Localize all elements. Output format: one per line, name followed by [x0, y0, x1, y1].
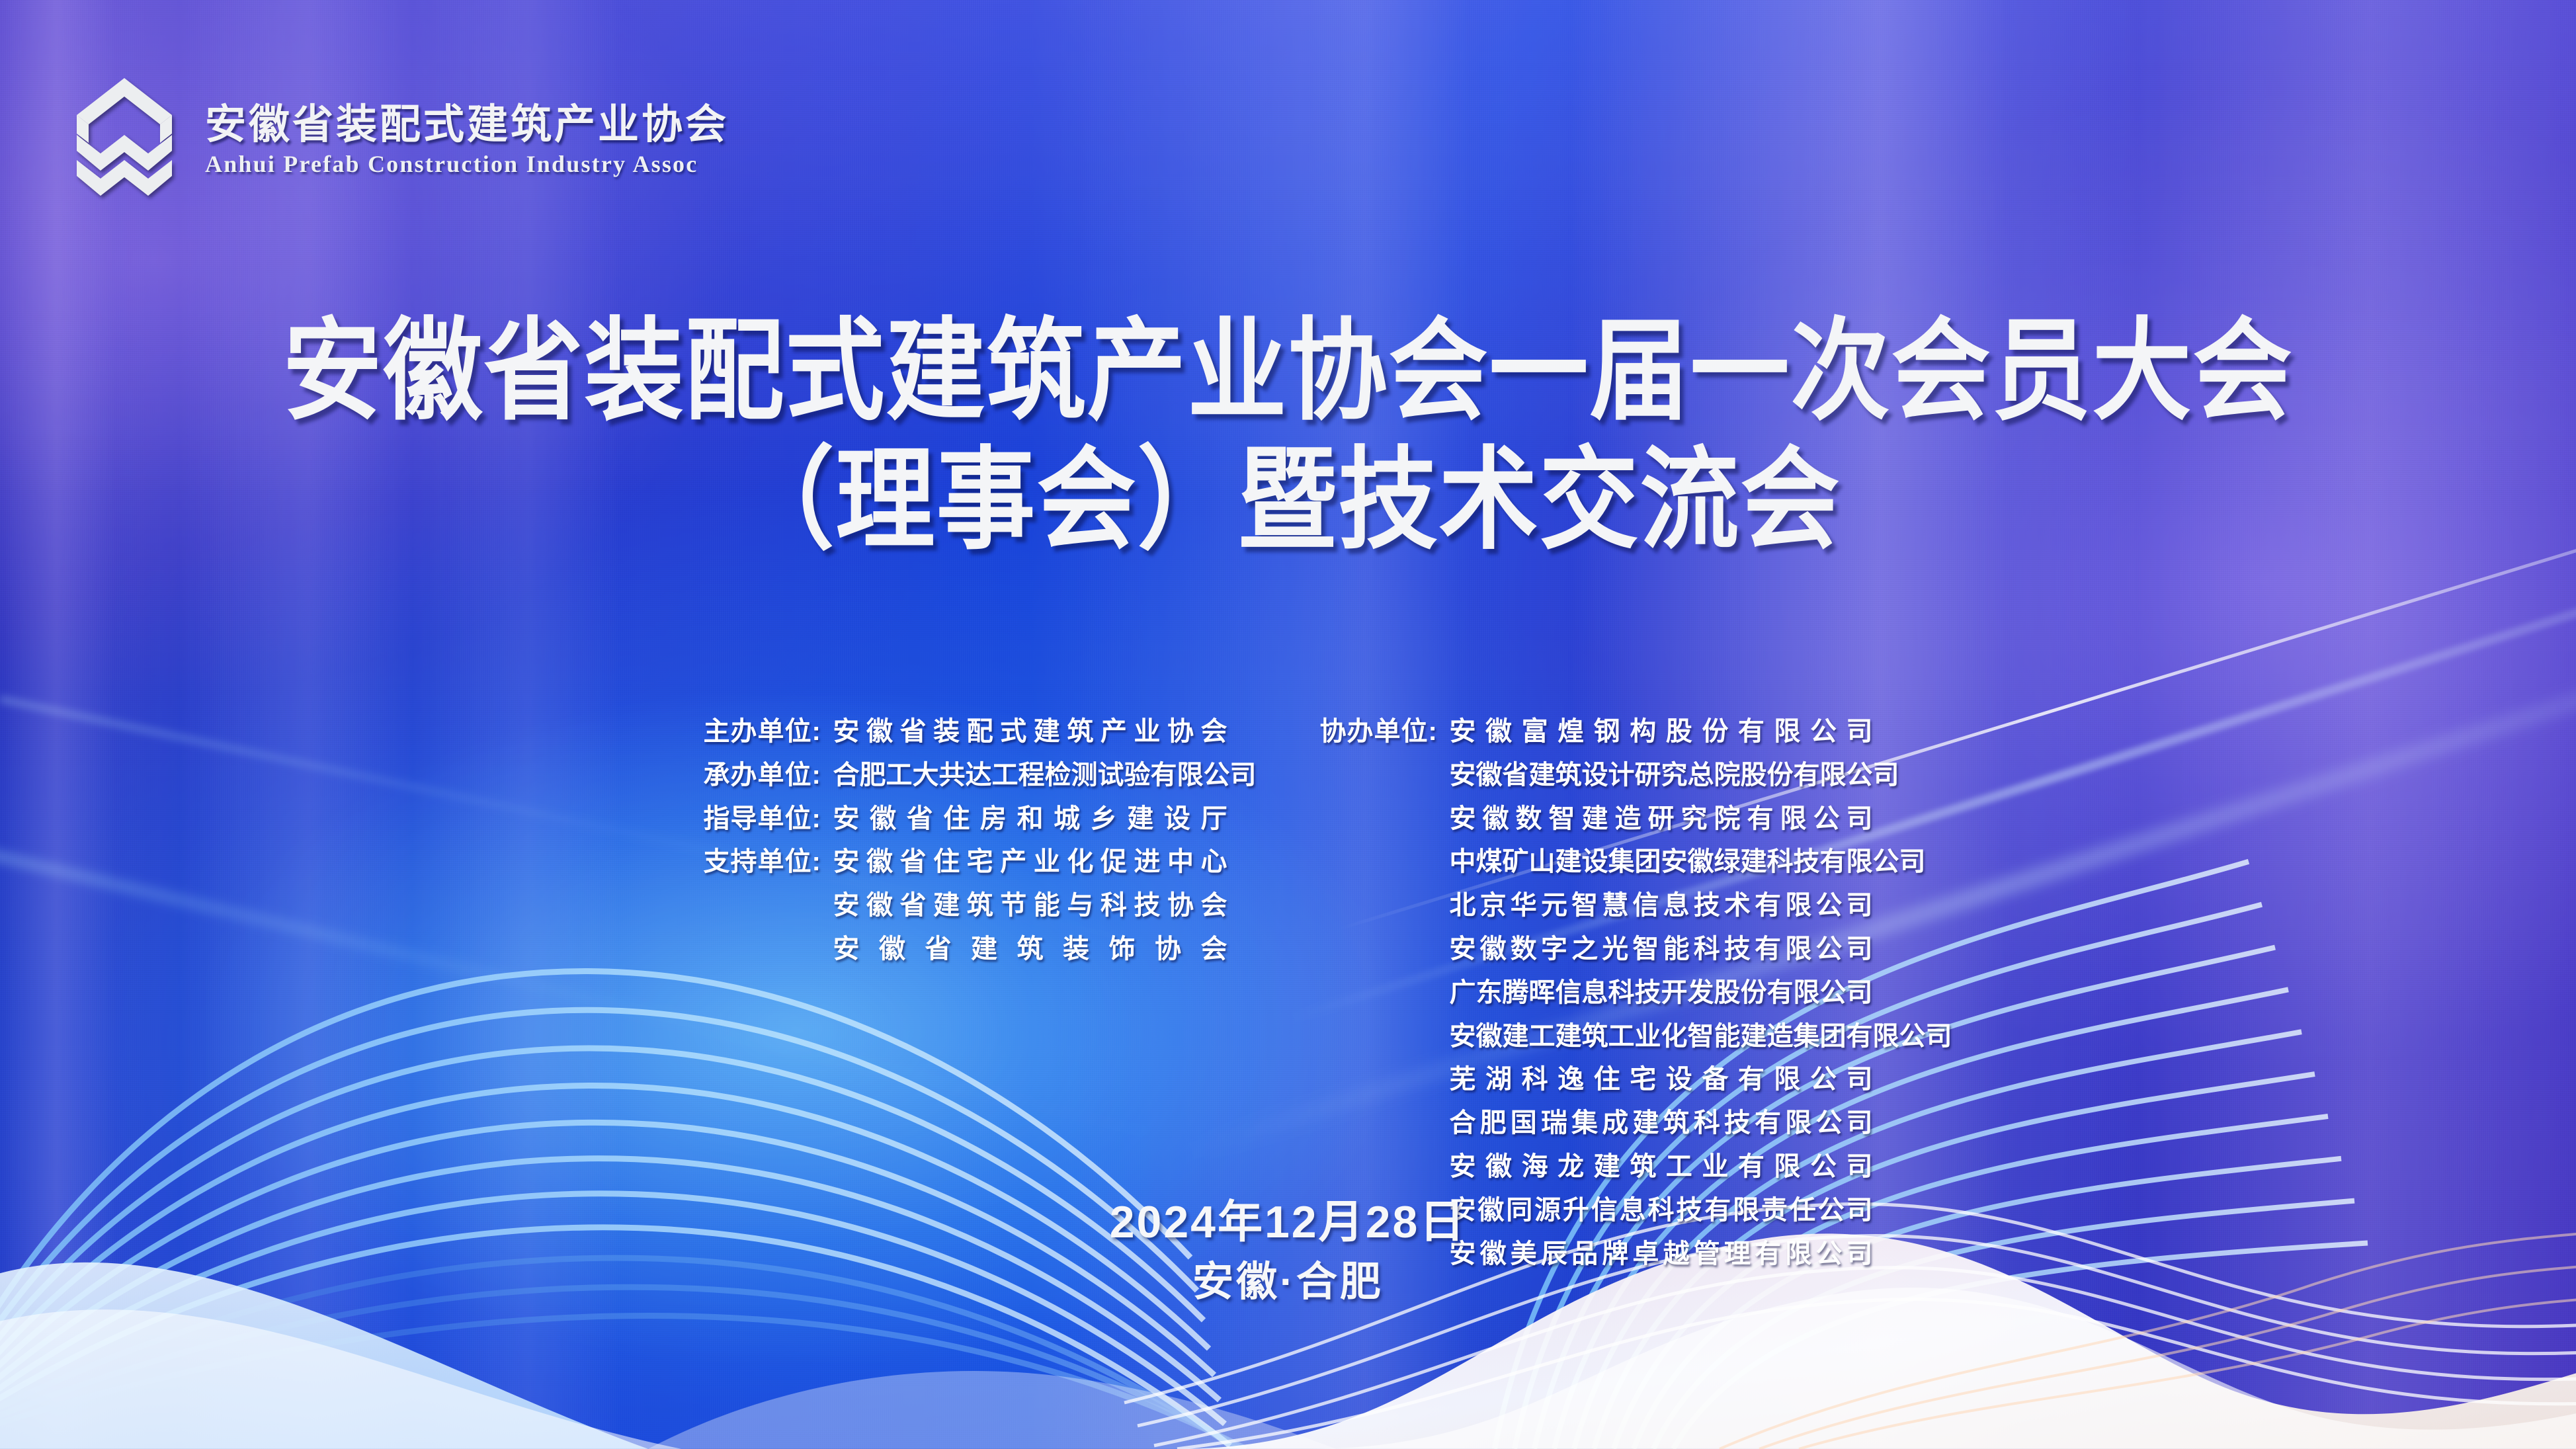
organizer-value: 安徽省建筑设计研究总院股份有限公司	[1450, 754, 1873, 797]
organizer-row: 协办单位: 合肥国瑞集成建筑科技有限公司	[1320, 1101, 1873, 1145]
organizer-value: 安徽省建筑装饰协会	[833, 928, 1227, 971]
event-date: 2024年12月28日	[0, 1194, 2576, 1251]
organizer-value: 北京华元智慧信息技术有限公司	[1450, 884, 1873, 927]
organizer-value: 安徽数字之光智能科技有限公司	[1450, 928, 1873, 971]
organizer-row: 主办单位: 安徽省建筑装饰协会	[704, 927, 1227, 971]
organizer-row: 主办单位: 安徽省装配式建筑产业协会	[704, 710, 1227, 753]
organizer-value: 中煤矿山建设集团安徽绿建科技有限公司	[1450, 841, 1873, 884]
organizer-value: 合肥国瑞集成建筑科技有限公司	[1450, 1102, 1873, 1145]
organizer-row: 协办单位: 安徽富煌钢构股份有限公司	[1320, 710, 1873, 753]
organizer-row: 协办单位: 安徽数字之光智能科技有限公司	[1320, 927, 1873, 971]
organizer-label: 主办单位:	[704, 710, 833, 748]
organizer-row: 支持单位: 安徽省住宅产业化促进中心	[704, 840, 1227, 884]
chevron-layers-icon	[71, 74, 177, 206]
organizer-value: 安徽省住房和城乡建设厅	[833, 798, 1227, 841]
organizer-value: 芜湖科逸住宅设备有限公司	[1450, 1058, 1873, 1101]
organizer-label: 支持单位:	[704, 840, 833, 878]
organizer-value: 广东腾晖信息科技开发股份有限公司	[1450, 972, 1873, 1014]
organizer-row: 协办单位: 安徽省建筑设计研究总院股份有限公司	[1320, 753, 1873, 797]
logo-chinese-name: 安徽省装配式建筑产业协会	[205, 103, 729, 147]
organizer-label: 承办单位:	[704, 753, 833, 792]
conference-backdrop-banner: 安徽省装配式建筑产业协会 Anhui Prefab Construction I…	[0, 0, 2576, 1449]
association-logo: 安徽省装配式建筑产业协会 Anhui Prefab Construction I…	[71, 74, 729, 206]
organizer-value: 安徽省住宅产业化促进中心	[833, 841, 1227, 884]
event-title: 安徽省装配式建筑产业协会一届一次会员大会 （理事会）暨技术交流会	[0, 299, 2576, 557]
organizer-value: 安徽建工建筑工业化智能建造集团有限公司	[1450, 1015, 1873, 1058]
organizer-row: 协办单位: 中煤矿山建设集团安徽绿建科技有限公司	[1320, 840, 1873, 884]
event-title-line-1: 安徽省装配式建筑产业协会一届一次会员大会	[0, 299, 2576, 443]
organizer-row: 主办单位: 安徽省建筑节能与科技协会	[704, 884, 1227, 927]
organizer-value: 安徽省装配式建筑产业协会	[833, 710, 1227, 753]
organizer-row: 指导单位: 安徽省住房和城乡建设厅	[704, 797, 1227, 841]
organizer-row: 协办单位: 北京华元智慧信息技术有限公司	[1320, 884, 1873, 927]
organizer-row: 协办单位: 芜湖科逸住宅设备有限公司	[1320, 1057, 1873, 1101]
organizer-value: 合肥工大共达工程检测试验有限公司	[833, 754, 1227, 797]
organizer-row: 协办单位: 安徽建工建筑工业化智能建造集团有限公司	[1320, 1014, 1873, 1058]
organizer-row: 承办单位: 合肥工大共达工程检测试验有限公司	[704, 753, 1227, 797]
event-footer: 2024年12月28日 安徽·合肥	[0, 1194, 2576, 1310]
event-title-line-2: （理事会）暨技术交流会	[0, 428, 2576, 572]
organizer-row: 协办单位: 安徽海龙建筑工业有限公司	[1320, 1145, 1873, 1188]
organizer-column-right: 协办单位: 安徽富煌钢构股份有限公司 协办单位: 安徽省建筑设计研究总院股份有限…	[1320, 710, 1873, 1275]
logo-english-name: Anhui Prefab Construction Industry Assoc	[205, 150, 729, 178]
organizer-value: 安徽省建筑节能与科技协会	[833, 884, 1227, 927]
organizer-label: 协办单位:	[1320, 710, 1450, 748]
organizer-credits: 主办单位: 安徽省装配式建筑产业协会 承办单位: 合肥工大共达工程检测试验有限公…	[0, 710, 2576, 1275]
organizer-value: 安徽海龙建筑工业有限公司	[1450, 1145, 1873, 1188]
organizer-value: 安徽数智建造研究院有限公司	[1450, 798, 1873, 841]
organizer-row: 协办单位: 广东腾晖信息科技开发股份有限公司	[1320, 971, 1873, 1014]
organizer-value: 安徽富煌钢构股份有限公司	[1450, 710, 1873, 753]
organizer-label: 指导单位:	[704, 797, 833, 835]
organizer-column-left: 主办单位: 安徽省装配式建筑产业协会 承办单位: 合肥工大共达工程检测试验有限公…	[704, 710, 1227, 971]
event-location: 安徽·合肥	[0, 1255, 2576, 1310]
organizer-row: 协办单位: 安徽数智建造研究院有限公司	[1320, 797, 1873, 841]
